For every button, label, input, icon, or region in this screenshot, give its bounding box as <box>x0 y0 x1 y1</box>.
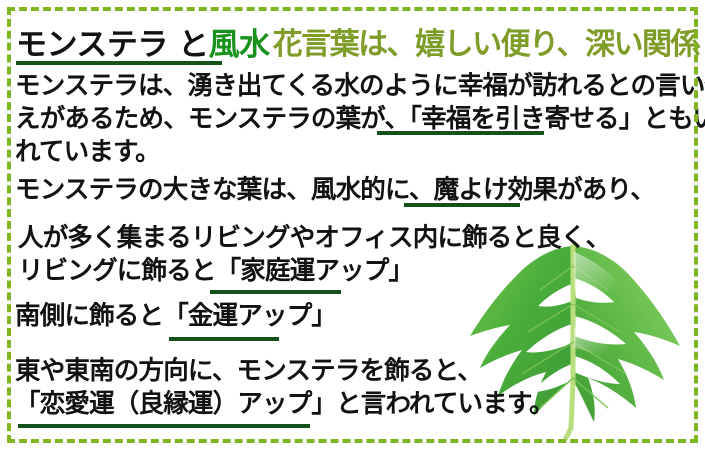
paragraph-5: 東や東南の方向に、モンステラを飾ると、 「恋愛運（良縁運）アップ」と言われていま… <box>15 355 554 421</box>
paragraph-5-line-1: 東や東南の方向に、モンステラを飾ると、 <box>15 355 554 388</box>
paragraph-4-line-1: 南側に飾ると「金運アップ」 <box>15 300 336 333</box>
highlight-underline-renai <box>18 424 310 428</box>
paragraph-3: 人が多く集まるリビングやオフィス内に飾ると良く、 リビングに飾ると「家庭運アップ… <box>18 222 610 288</box>
paragraph-2-line-1: モンステラの大きな葉は、風水的に、魔よけ効果があり、 <box>15 174 655 207</box>
paragraph-1: モンステラは、湧き出てくる水のように幸福が訪れるとの言い伝 えがあるため、モンス… <box>15 70 705 169</box>
title-part-green: 風水 <box>209 19 270 64</box>
paragraph-3-line-2: リビングに飾ると「家庭運アップ」 <box>18 255 610 288</box>
title-underline <box>16 61 222 65</box>
infographic-page: モンステラ と 風水 花言葉は、嬉しい便り、深い関係 モン <box>0 0 705 450</box>
title-part-black: モンステラ と <box>16 19 209 64</box>
paragraph-5-line-2: 「恋愛運（良縁運）アップ」と言われています。 <box>15 388 554 421</box>
paragraph-1-line-3: れています。 <box>15 136 705 169</box>
highlight-underline-kinun <box>169 337 279 341</box>
highlight-underline-kofuku <box>377 131 544 135</box>
highlight-underline-mayoke <box>404 203 520 207</box>
paragraph-1-line-2: えがあるため、モンステラの葉が、「幸福を引き寄せる」ともいわ <box>15 103 705 136</box>
paragraph-1-line-1: モンステラは、湧き出てくる水のように幸福が訪れるとの言い伝 <box>15 70 705 103</box>
paragraph-4: 南側に飾ると「金運アップ」 <box>15 300 336 333</box>
page-title: モンステラ と 風水 花言葉は、嬉しい便り、深い関係 <box>16 18 691 64</box>
title-part-olive: 花言葉は、嬉しい便り、深い関係 <box>273 19 699 63</box>
highlight-underline-katei <box>210 290 341 294</box>
paragraph-3-line-1: 人が多く集まるリビングやオフィス内に飾ると良く、 <box>18 222 610 255</box>
paragraph-2: モンステラの大きな葉は、風水的に、魔よけ効果があり、 <box>15 174 655 207</box>
content-layer: モンステラ と 風水 花言葉は、嬉しい便り、深い関係 モン <box>0 0 705 450</box>
